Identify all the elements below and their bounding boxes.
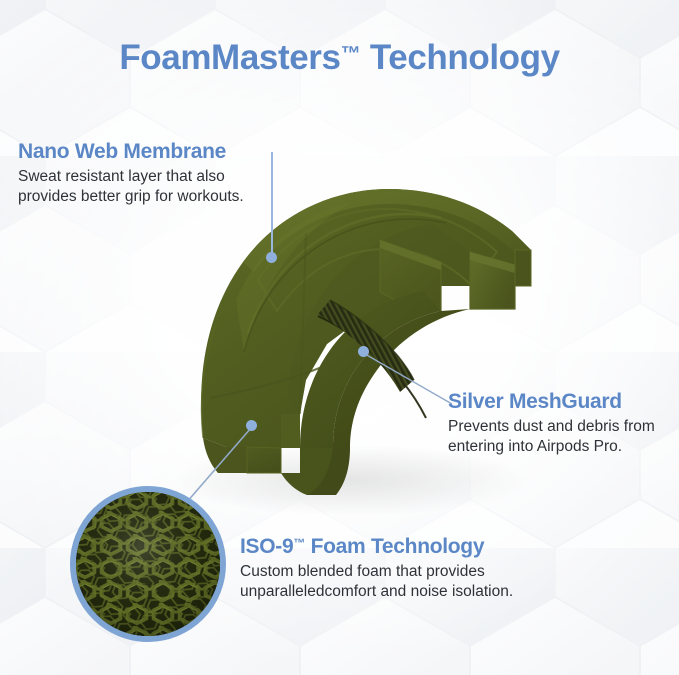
foam-magnification-circle xyxy=(70,486,226,642)
callout-heading-iso-9-foam-technology: ISO-9™ Foam Technology xyxy=(240,535,513,559)
callout-iso-9-foam-technology: ISO-9™ Foam Technology Custom blended fo… xyxy=(240,535,513,602)
callout-body-iso-9-foam-technology: Custom blended foam that provides unpara… xyxy=(240,562,513,602)
callout-heading-nano-web-membrane: Nano Web Membrane xyxy=(18,140,244,164)
callout-heading-suffix: Foam Technology xyxy=(305,535,484,558)
callout-dot-silver-meshguard[interactable] xyxy=(358,346,369,357)
callout-nano-web-membrane: Nano Web Membrane Sweat resistant layer … xyxy=(18,140,244,207)
callout-body-line-2: unparalleledcomfort and noise isolation. xyxy=(240,583,513,600)
callout-dot-iso-9-foam[interactable] xyxy=(246,420,257,431)
title-trademark-symbol: ™ xyxy=(341,43,361,65)
title-main: FoamMasters xyxy=(119,38,340,77)
callout-heading-main: ISO-9 xyxy=(240,535,293,558)
callout-body-line-1: Sweat resistant layer that also xyxy=(18,168,225,185)
callout-silver-meshguard: Silver MeshGuard Prevents dust and debri… xyxy=(448,390,655,457)
callout-body-line-2: provides better grip for workouts. xyxy=(18,188,244,205)
callout-body-line-2: entering into Airpods Pro. xyxy=(448,438,622,455)
callout-heading-trademark-symbol: ™ xyxy=(293,536,305,550)
foam-cell-texture xyxy=(72,488,226,642)
callout-body-line-1: Prevents dust and debris from xyxy=(448,418,655,435)
title-suffix: Technology xyxy=(361,38,560,77)
callout-heading-silver-meshguard: Silver MeshGuard xyxy=(448,390,655,414)
foammasters-infographic: FoamMasters™ Technology xyxy=(0,0,679,675)
callout-body-line-1: Custom blended foam that provides xyxy=(240,563,485,580)
callout-body-silver-meshguard: Prevents dust and debris from entering i… xyxy=(448,417,655,457)
page-title: FoamMasters™ Technology xyxy=(0,38,679,78)
callout-dot-nano-web-membrane[interactable] xyxy=(266,252,277,263)
callout-body-nano-web-membrane: Sweat resistant layer that also provides… xyxy=(18,167,244,207)
